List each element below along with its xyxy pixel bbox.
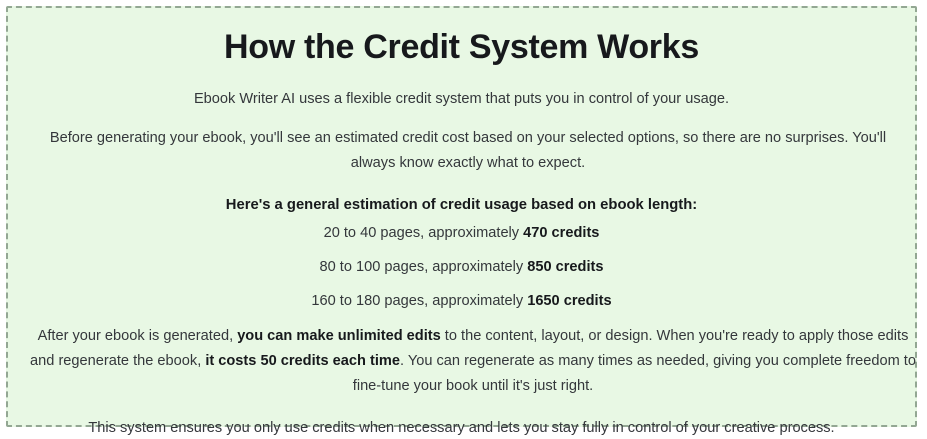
closing-paragraph: This system ensures you only use credits… (28, 417, 895, 439)
callout-content: How the Credit System Works Ebook Writer… (8, 8, 915, 425)
edits-emphasis-cost: it costs 50 credits each time (205, 353, 400, 369)
edits-emphasis-unlimited: you can make unlimited edits (237, 328, 441, 344)
tier-pages-label: 20 to 40 pages, approximately (324, 225, 524, 241)
edits-paragraph: After your ebook is generated, you can m… (28, 324, 918, 399)
tier-credits-value: 850 credits (527, 259, 603, 275)
tier-credits-value: 1650 credits (527, 293, 611, 309)
tier-pages-label: 80 to 100 pages, approximately (320, 259, 528, 275)
edits-text-part-1: After your ebook is generated, (38, 328, 238, 344)
tiers-heading: Here's a general estimation of credit us… (28, 194, 895, 216)
credit-system-callout: How the Credit System Works Ebook Writer… (6, 6, 917, 427)
tier-pages-label: 160 to 180 pages, approximately (311, 293, 527, 309)
estimate-paragraph: Before generating your ebook, you'll see… (28, 126, 908, 176)
edits-text-part-3: . You can regenerate as many times as ne… (353, 353, 916, 394)
list-item: 80 to 100 pages, approximately 850 credi… (28, 250, 895, 284)
list-item: 160 to 180 pages, approximately 1650 cre… (28, 284, 895, 318)
tier-credits-value: 470 credits (523, 225, 599, 241)
intro-paragraph: Ebook Writer AI uses a flexible credit s… (28, 88, 895, 110)
list-item: 20 to 40 pages, approximately 470 credit… (28, 216, 895, 250)
page-title: How the Credit System Works (28, 24, 895, 70)
credit-tier-list: 20 to 40 pages, approximately 470 credit… (28, 216, 895, 318)
